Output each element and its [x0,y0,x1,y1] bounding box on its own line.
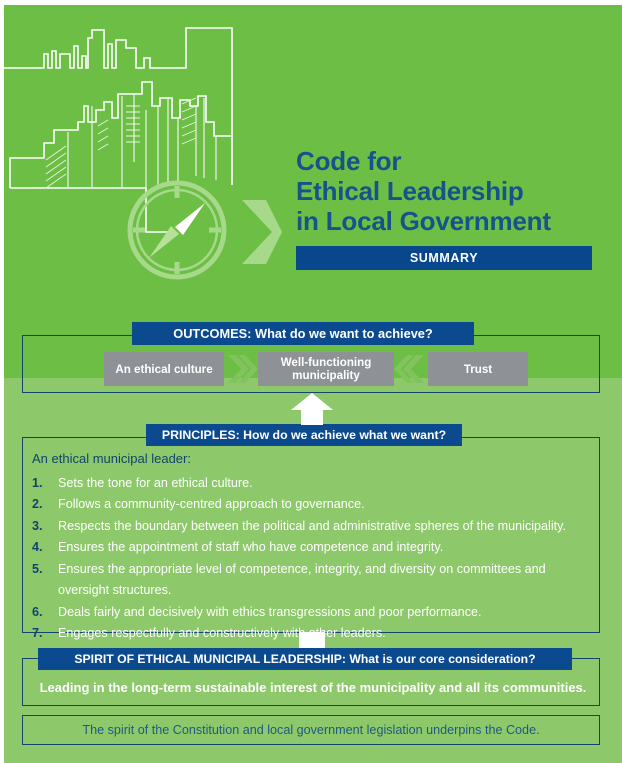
left-edge-strip [0,0,4,763]
list-item-number: 3. [32,516,58,538]
principles-list: An ethical municipal leader: 1. Sets the… [32,448,590,645]
summary-badge: SUMMARY [296,246,592,270]
outcome-box-3: Trust [428,352,528,386]
list-item-number: 4. [32,537,58,559]
outcomes-row: An ethical culture Well-functioning muni… [22,350,600,388]
list-item: 6. Deals fairly and decisively with ethi… [32,602,590,624]
principles-lead-in: An ethical municipal leader: [32,448,590,470]
list-item-number: 1. [32,473,58,495]
list-item-text: Engages respectfully and constructively … [58,623,590,645]
hero-artwork [0,10,300,310]
list-item-number: 5. [32,559,58,602]
list-item-number: 6. [32,602,58,624]
list-item-number: 2. [32,494,58,516]
list-item: 7. Engages respectfully and constructive… [32,623,590,645]
list-item-text: Follows a community-centred approach to … [58,494,590,516]
chevron-right-icon [242,200,282,264]
principles-heading: PRINCIPLES: How do we achieve what we wa… [146,424,462,446]
list-item: 1. Sets the tone for an ethical culture. [32,473,590,495]
title-block: Code for Ethical Leadership in Local Gov… [296,146,596,270]
list-item-text: Respects the boundary between the politi… [58,516,590,538]
footer-note: The spirit of the Constitution and local… [22,715,600,745]
list-item-text: Ensures the appointment of staff who hav… [58,537,590,559]
outcomes-heading: OUTCOMES: What do we want to achieve? [132,322,474,345]
spirit-statement: Leading in the long-term sustainable int… [30,680,596,695]
page-title: Code for Ethical Leadership in Local Gov… [296,146,596,236]
double-chevron-right-icon [224,352,258,386]
list-item-text: Deals fairly and decisively with ethics … [58,602,590,624]
outcome-box-2: Well-functioning municipality [258,352,394,386]
list-item: 2. Follows a community-centred approach … [32,494,590,516]
up-arrow-icon [290,393,334,425]
list-item-number: 7. [32,623,58,645]
list-item: 5. Ensures the appropriate level of comp… [32,559,590,602]
title-line-2: Ethical Leadership [296,176,596,206]
list-item-text: Ensures the appropriate level of compete… [58,559,590,602]
title-line-1: Code for [296,146,596,176]
city-skyline-outline [0,28,232,232]
list-item: 4. Ensures the appointment of staff who … [32,537,590,559]
poster-canvas: Code for Ethical Leadership in Local Gov… [0,0,622,763]
spirit-heading: SPIRIT OF ETHICAL MUNICIPAL LEADERSHIP: … [38,648,572,670]
compass-rose [130,183,224,277]
double-chevron-left-icon [394,352,428,386]
outcome-box-1: An ethical culture [104,352,224,386]
list-item: 3. Respects the boundary between the pol… [32,516,590,538]
top-edge-strip [0,0,622,5]
title-line-3: in Local Government [296,206,596,236]
list-item-text: Sets the tone for an ethical culture. [58,473,590,495]
